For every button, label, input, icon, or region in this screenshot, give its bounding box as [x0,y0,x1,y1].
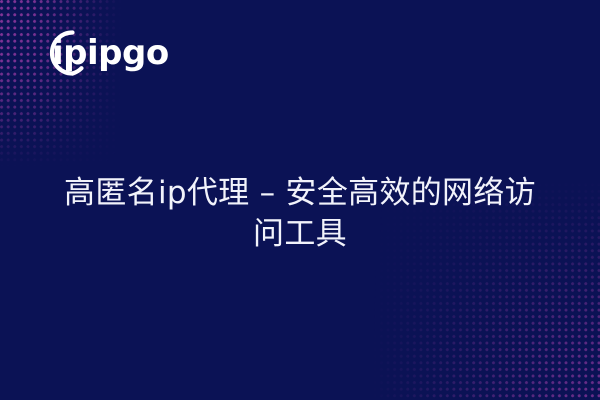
title-container: 高匿名ip代理 – 安全高效的网络访问工具 [0,152,600,275]
promo-banner: ipipgo 高匿名ip代理 – 安全高效的网络访问工具 [0,0,600,400]
page-title: 高匿名ip代理 – 安全高效的网络访问工具 [50,173,550,255]
logo-wordmark-text: ipipgo [52,33,169,73]
brand-logo[interactable]: ipipgo [26,22,196,84]
